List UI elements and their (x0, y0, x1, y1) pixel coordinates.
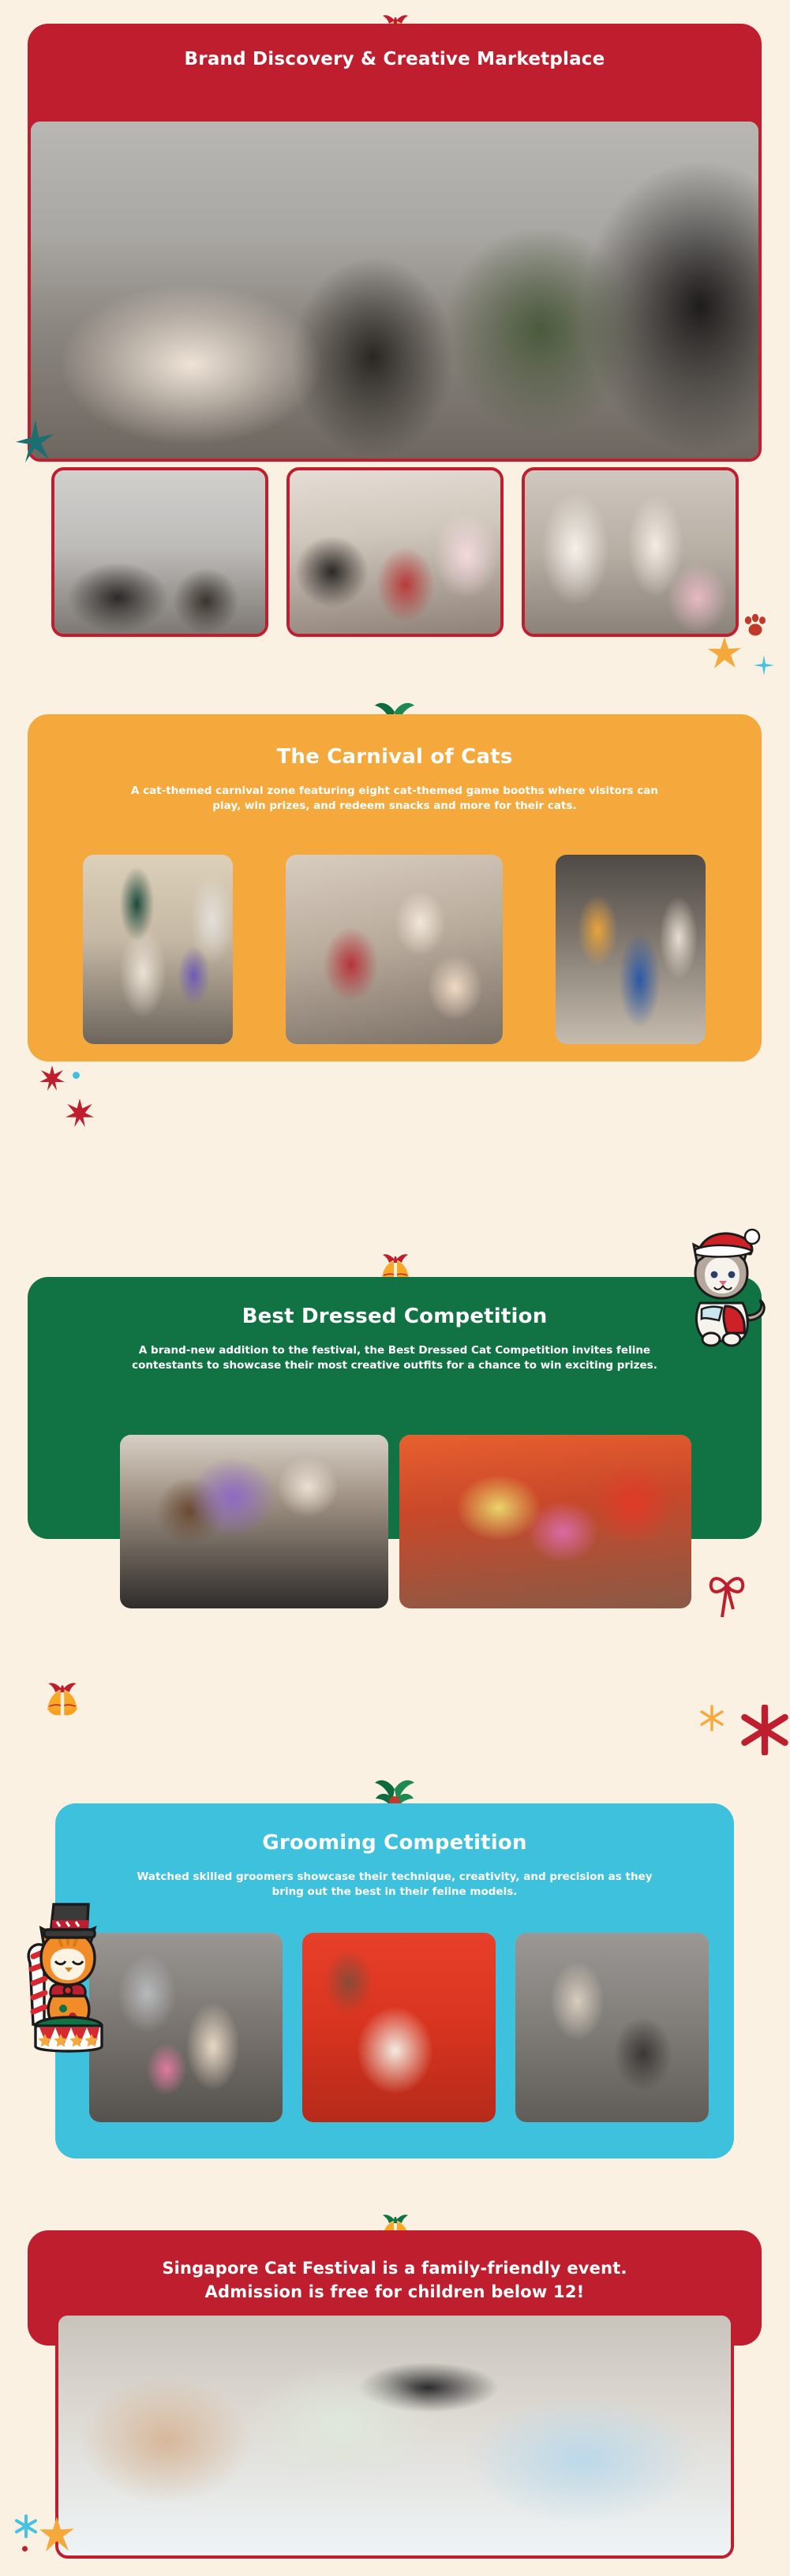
orange-star-icon (707, 636, 742, 671)
section-title: Best Dressed Competition (28, 1277, 762, 1329)
blue-sparkle-icon (754, 655, 774, 676)
carnival-photo-3 (556, 855, 706, 1044)
red-sparkle-icon (39, 1065, 65, 1091)
red-dot-icon (22, 2546, 28, 2552)
best-dressed-photo-2 (399, 1435, 691, 1608)
marketplace-thumb-1 (51, 467, 268, 637)
banner-line-1: Singapore Cat Festival is a family-frien… (28, 2230, 762, 2278)
section-title: Brand Discovery & Creative Marketplace (28, 24, 762, 69)
section-title: The Carnival of Cats (28, 714, 762, 769)
blue-sparkle-icon (14, 2514, 38, 2538)
section-description: A brand-new addition to the festival, th… (118, 1343, 671, 1374)
marketplace-hero-photo (28, 118, 762, 462)
grooming-photo-2 (302, 1933, 496, 2122)
marketplace-thumb-2 (286, 467, 504, 637)
ribbon-bow-icon (706, 1567, 747, 1627)
paw-print-icon (743, 614, 769, 638)
kids-activity-photo (55, 2312, 734, 2559)
marketplace-thumb-3 (522, 467, 739, 637)
cyan-dot-icon (73, 1072, 80, 1079)
carnival-photo-2 (286, 855, 503, 1044)
grooming-photo-1 (89, 1933, 283, 2122)
section-description: Watched skilled groomers showcase their … (134, 1870, 655, 1900)
red-sparkle-icon (739, 1705, 790, 1755)
section-description: A cat-themed carnival zone featuring eig… (118, 784, 671, 814)
festival-highlights-page: Brand Discovery & Creative Marketplace (0, 0, 790, 2576)
banner-line-2: Admission is free for children below 12! (28, 2278, 762, 2301)
best-dressed-photo-1 (120, 1435, 388, 1608)
bells-icon (38, 1673, 87, 1722)
section-title: Grooming Competition (55, 1803, 734, 1855)
snowflake-icon (698, 1705, 725, 1732)
red-sparkle-icon (66, 1099, 94, 1127)
grooming-photo-3 (515, 1933, 709, 2122)
carnival-photo-1 (83, 855, 233, 1044)
